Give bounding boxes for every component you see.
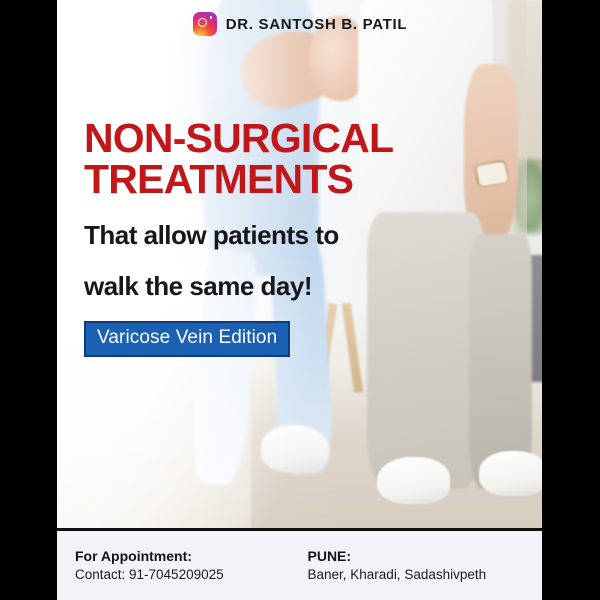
subheadline-line-2: walk the same day!: [84, 272, 393, 301]
instagram-handle-label: DR. SANTOSH B. PATIL: [226, 16, 408, 33]
patient-shoe-left: [377, 457, 450, 505]
location-column: PUNE: Baner, Kharadi, Sadashivpeth: [300, 547, 543, 585]
letterbox-bar-left: [0, 0, 57, 600]
city-title: PUNE:: [308, 547, 543, 566]
edition-badge: Varicose Vein Edition: [84, 321, 290, 357]
appointment-title: For Appointment:: [75, 547, 300, 566]
contact-footer: For Appointment: Contact: 91-7045209025 …: [57, 531, 542, 600]
letterbox-bar-right: [542, 0, 600, 600]
subheadline-line-1: That allow patients to: [84, 221, 393, 250]
wristwatch-face: [476, 161, 507, 186]
clinician-shoe: [261, 425, 329, 473]
instagram-handle[interactable]: DR. SANTOSH B. PATIL: [0, 12, 600, 36]
patient-trouser-leg-right: [469, 234, 532, 489]
instagram-icon: [193, 12, 217, 36]
appointment-column: For Appointment: Contact: 91-7045209025: [57, 547, 300, 585]
headline-line-2: TREATMENTS: [84, 159, 393, 200]
patient-shoe-right: [479, 451, 542, 496]
headline-line-1: NON-SURGICAL: [84, 118, 393, 159]
city-areas: Baner, Kharadi, Sadashivpeth: [308, 566, 543, 585]
advertisement-poster: DR. SANTOSH B. PATIL NON-SURGICAL TREATM…: [0, 0, 600, 600]
appointment-contact[interactable]: Contact: 91-7045209025: [75, 566, 300, 585]
headline-block: NON-SURGICAL TREATMENTS That allow patie…: [84, 118, 393, 357]
